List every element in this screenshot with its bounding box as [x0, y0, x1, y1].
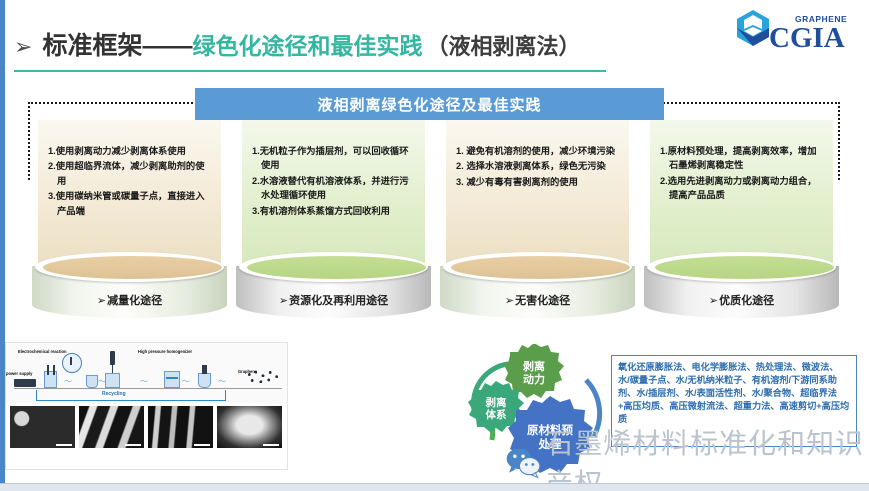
figure-label-recycling: Recycling: [102, 391, 126, 397]
callout-detail: [70, 357, 72, 365]
label-arrow-icon: ➢: [97, 294, 106, 307]
scale-bar: [194, 444, 210, 446]
cylinder-fill: [655, 256, 834, 279]
pathway-column-2[interactable]: 1.无机粒子作为插层剂，可以回收循环使用 2.水溶液替代有机溶液体系，并进行污水…: [236, 120, 430, 330]
process-diagram: Electrochemical reaction High pressure h…: [6, 343, 288, 403]
scale-bar: [125, 444, 141, 446]
cylinder-rim: [443, 252, 632, 282]
pathway-columns: 1.使用剥离动力减少剥离体系使用 2.使用超临界流体，减少剥离助剂的使用 3.使…: [32, 120, 838, 330]
pathway-panel-2: 1.无机粒子作为插层剂，可以回收循环使用 2.水溶液替代有机溶液体系，并进行污水…: [242, 120, 425, 270]
pathway-panel-3: 1. 避免有机溶剂的使用，减少环境污染 2. 选择水溶液剥离体系，绿色无污染 3…: [446, 120, 629, 270]
flow-arrow-icon: 〜: [98, 376, 106, 387]
pathway-list-3: 1. 避免有机溶剂的使用，减少环境污染 2. 选择水溶液剥离体系，绿色无污染 3…: [456, 144, 621, 189]
label-arrow-icon: ➢: [709, 294, 718, 307]
page-title-suffix: （液相剥离法）: [426, 29, 580, 61]
figure-label-power-supply: power supply: [6, 371, 32, 376]
figure-baseline: [14, 388, 282, 389]
pathway-label-text: 无害化途径: [515, 295, 570, 307]
homogenizer-band: [166, 377, 178, 379]
flow-arrow-icon: 〜: [218, 376, 226, 387]
cylinder-rim: [35, 252, 224, 282]
page-title-highlight: 绿色化途径和最佳实践: [192, 27, 422, 61]
gear-exfoliation-power: 剥离 动力: [504, 344, 564, 398]
slide-canvas: ➢ 标准框架—— 绿色化途径和最佳实践 （液相剥离法） GRAPHENE CGI…: [0, 0, 869, 491]
watermark-text: 石墨烯材料标准化和知识产权: [545, 422, 869, 491]
section-banner: 液相剥离绿色化途径及最佳实践: [195, 88, 664, 120]
slide-header: ➢ 标准框架—— 绿色化途径和最佳实践 （液相剥离法） GRAPHENE CGI…: [0, 0, 869, 80]
pathway-label-4: ➢优质化途径: [644, 292, 839, 308]
pathway-label-2: ➢资源化及再利用途径: [236, 292, 431, 308]
logo-mark-icon: GRAPHENE CGIA: [729, 6, 855, 58]
figure-label-homogenizer: High pressure homogenizer: [138, 349, 192, 354]
label-arrow-icon: ➢: [279, 294, 288, 307]
cylinder-rim: [239, 252, 428, 282]
pathway-label-3: ➢无害化途径: [440, 292, 635, 308]
svg-text:体系: 体系: [486, 408, 507, 421]
figure-label-electrochemical: Electrochemical reaction: [18, 349, 66, 354]
list-item: 1.无机粒子作为插层剂，可以回收循环使用: [252, 144, 417, 173]
recycling-loop: [36, 390, 226, 401]
watermark: 石墨烯材料标准化和知识产权: [505, 440, 869, 484]
pathway-label-text: 资源化及再利用途径: [289, 295, 388, 307]
zoom-callout-icon: [62, 353, 82, 373]
svg-text:剥离: 剥离: [486, 396, 507, 409]
sem-image: [78, 405, 145, 449]
pathway-list-2: 1.无机粒子作为插层剂，可以回收循环使用 2.水溶液替代有机溶液体系，并进行污水…: [252, 144, 417, 218]
flow-arrow-icon: 〜: [182, 376, 190, 387]
homogenizer-icon: [164, 371, 180, 388]
pathway-column-3[interactable]: 1. 避免有机溶剂的使用，减少环境污染 2. 选择水溶液剥离体系，绿色无污染 3…: [440, 120, 634, 330]
process-figure: Electrochemical reaction High pressure h…: [5, 342, 288, 470]
list-item: 2. 选择水溶液剥离体系，绿色无污染: [456, 159, 621, 173]
pathway-panel-1: 1.使用剥离动力减少剥离体系使用 2.使用超临界流体，减少剥离助剂的使用 3.使…: [38, 120, 221, 270]
wechat-icon: [505, 443, 541, 481]
electro-cell-icon: [44, 371, 57, 388]
pathway-column-4[interactable]: 1.原材料预处理，提高剥离效率，增加石墨烯剥离稳定性 2.选用先进剥离动力或剥离…: [644, 120, 838, 330]
electrode-icon: [47, 365, 49, 375]
list-item: 3.使用碳纳米管或碳量子点，直接进入产品端: [48, 189, 213, 218]
pathway-panel-4: 1.原材料预处理，提高剥离效率，增加石墨烯剥离稳定性 2.选用先进剥离动力或剥离…: [650, 120, 833, 270]
methods-text: 氧化还原膨胀法、电化学膨胀法、热处理法、微波法、水/碳量子点、水/无机纳米粒子、…: [618, 361, 850, 426]
pathway-label-text: 优质化途径: [719, 295, 774, 307]
pathway-column-1[interactable]: 1.使用剥离动力减少剥离体系使用 2.使用超临界流体，减少剥离助剂的使用 3.使…: [32, 120, 226, 330]
pathway-list-4: 1.原材料预处理，提高剥离效率，增加石墨烯剥离稳定性 2.选用先进剥离动力或剥离…: [660, 144, 825, 203]
label-arrow-icon: ➢: [505, 294, 514, 307]
scale-bar: [263, 444, 279, 446]
list-item: 1. 避免有机溶剂的使用，减少环境污染: [456, 144, 621, 158]
cylinder-fill: [43, 256, 222, 279]
list-item: 2.水溶液替代有机溶液体系，并进行污水处理循环使用: [252, 174, 417, 203]
reactor-icon: [105, 373, 120, 388]
flask-icon: [86, 375, 98, 388]
page-title-main: 标准框架——: [42, 26, 192, 62]
sem-image-row: [6, 403, 287, 449]
pathway-list-1: 1.使用剥离动力减少剥离体系使用 2.使用超临界流体，减少剥离助剂的使用 3.使…: [48, 144, 213, 218]
page-title: ➢ 标准框架—— 绿色化途径和最佳实践 （液相剥离法）: [14, 26, 580, 62]
svg-text:剥离: 剥离: [523, 359, 545, 373]
flow-arrow-icon: 〜: [64, 376, 72, 387]
scale-bar: [56, 444, 72, 446]
list-item: 1.使用剥离动力减少剥离体系使用: [48, 144, 213, 158]
svg-text:CGIA: CGIA: [769, 22, 845, 54]
cgia-graphene-logo: GRAPHENE CGIA: [729, 6, 855, 58]
collection-flask-icon: [198, 373, 211, 388]
bottom-edge-bar: [0, 483, 869, 491]
cylinder-fill: [247, 256, 426, 279]
flask-neck: [202, 365, 207, 374]
power-supply-unit: [14, 379, 36, 387]
sem-image: [147, 405, 214, 449]
list-item: 2.使用超临界流体，减少剥离助剂的使用: [48, 159, 213, 188]
pathway-cylinder-3: ➢无害化途径: [440, 252, 635, 324]
list-item: 1.原材料预处理，提高剥离效率，增加石墨烯剥离稳定性: [660, 144, 825, 173]
sem-image: [216, 405, 283, 449]
pathway-cylinder-4: ➢优质化途径: [644, 252, 839, 324]
title-underline: [14, 70, 606, 72]
list-item: 3. 减少有毒有害剥离剂的使用: [456, 175, 621, 189]
list-item: 3.有机溶剂体系蒸馏方式回收利用: [252, 204, 417, 218]
stirrer-motor-icon: [110, 351, 115, 365]
svg-text:动力: 动力: [523, 372, 545, 386]
pathway-cylinder-2: ➢资源化及再利用途径: [236, 252, 431, 324]
pathway-label-1: ➢减量化途径: [32, 292, 227, 308]
electrode-icon: [53, 365, 55, 375]
pathway-cylinder-1: ➢减量化途径: [32, 252, 227, 324]
section-banner-label: 液相剥离绿色化途径及最佳实践: [317, 94, 541, 115]
cylinder-rim: [647, 252, 836, 282]
sem-image: [9, 405, 76, 449]
list-item: 2.选用先进剥离动力或剥离动力组合，提高产品品质: [660, 174, 825, 203]
cylinder-fill: [451, 256, 630, 279]
graphene-lattice-icon: [245, 369, 281, 385]
flow-arrow-icon: 〜: [140, 376, 148, 387]
pathway-label-text: 减量化途径: [107, 295, 162, 307]
bullet-arrow-icon: ➢: [14, 37, 32, 59]
